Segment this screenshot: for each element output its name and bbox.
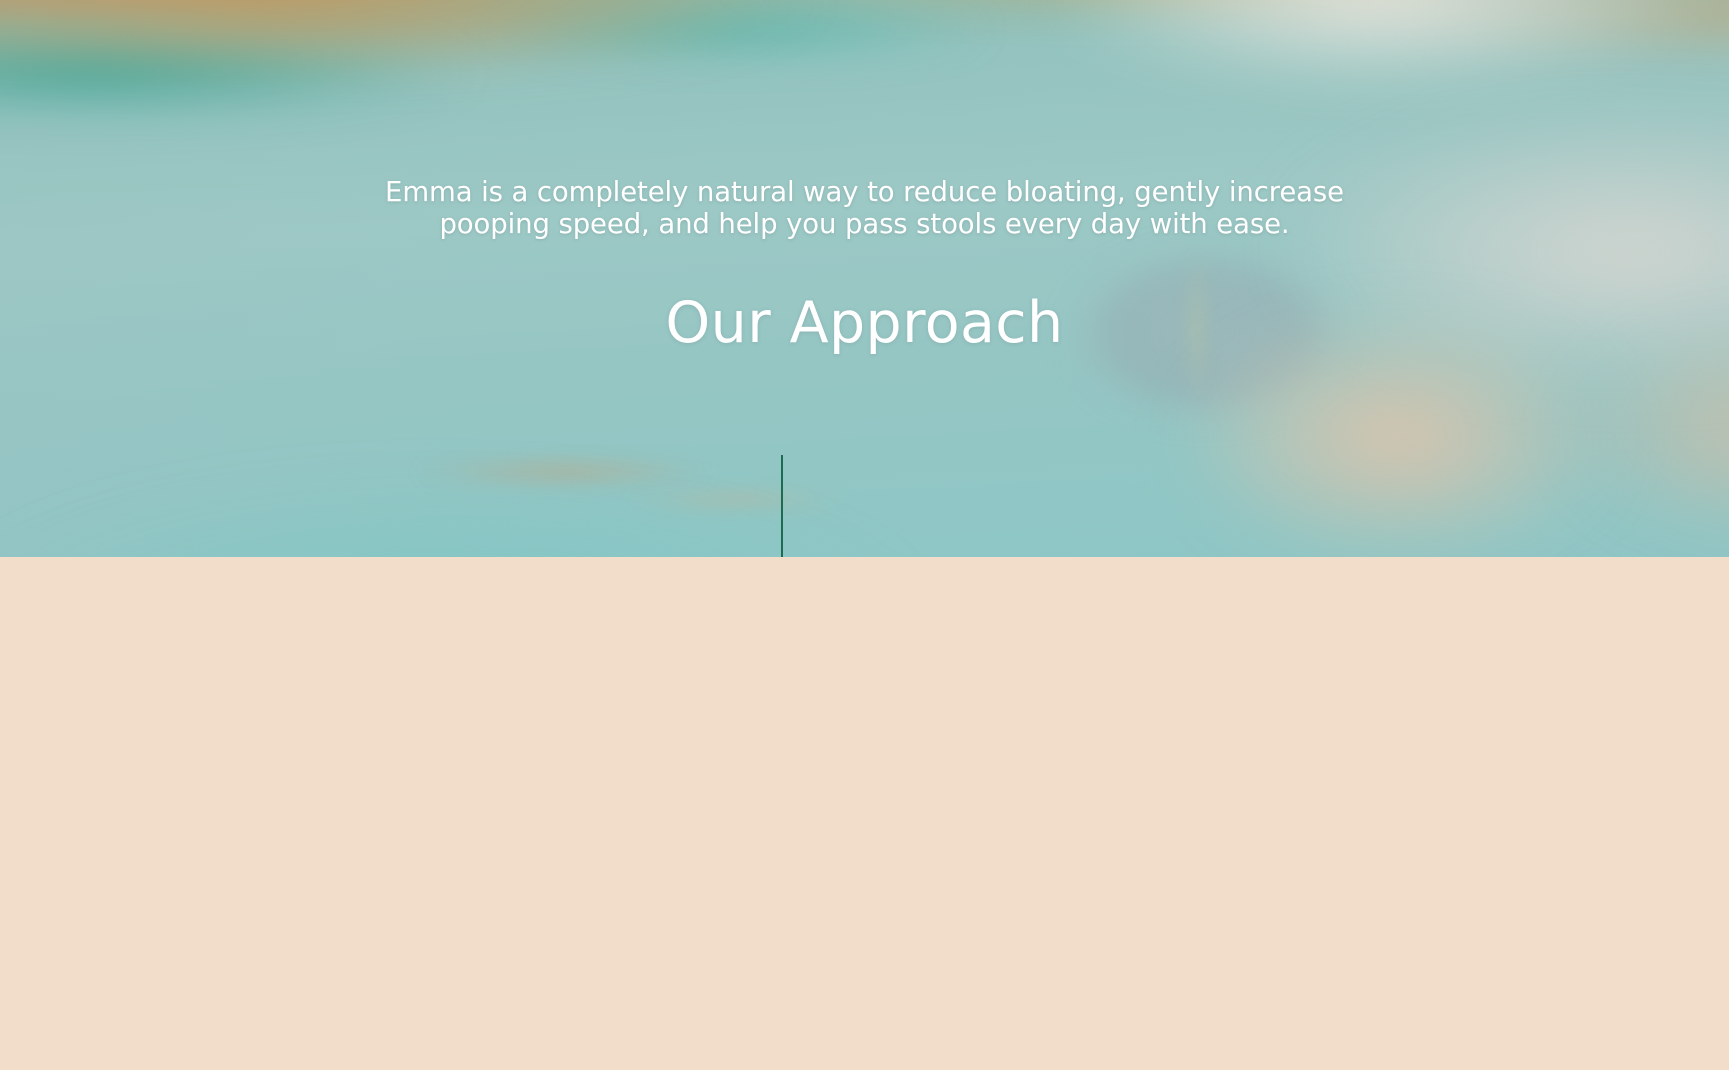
hero-subheadline: Emma is a completely natural way to redu… [360,176,1370,240]
page-title: Our Approach [0,294,1729,354]
hero-section: Emma is a completely natural way to redu… [0,0,1729,557]
hero-content: Emma is a completely natural way to redu… [0,0,1729,557]
approach-section: Most digestive “remedies” do more harm t… [0,557,1729,1070]
vertical-divider [781,455,783,557]
